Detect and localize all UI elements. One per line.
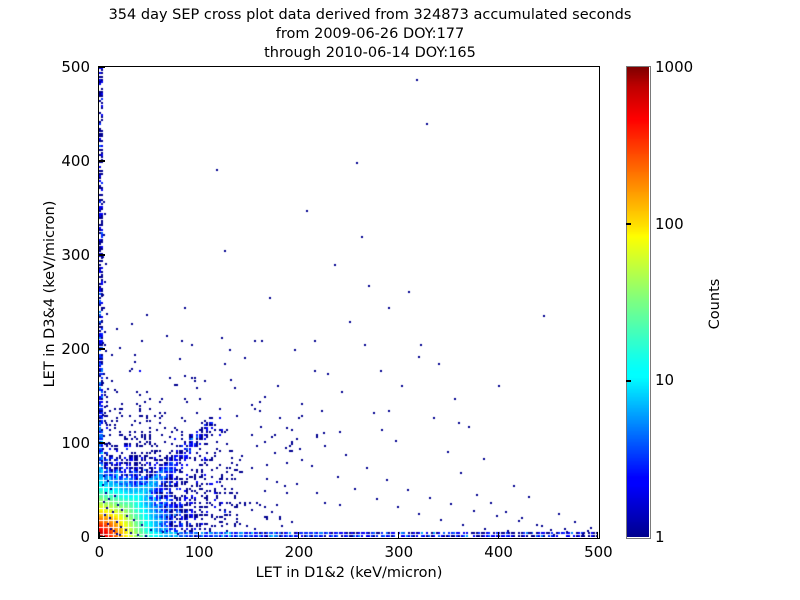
colorbar-title: Counts: [707, 154, 723, 454]
title-line-3: through 2010-06-14 DOY:165: [0, 44, 740, 63]
x-tick-400: [498, 532, 499, 538]
y-axis-title: LET in D3&4 (keV/micron): [42, 144, 58, 444]
x-tick-label-200: 200: [285, 545, 314, 560]
y-tick-200: [99, 348, 105, 349]
y-tick-500: [99, 67, 105, 68]
x-tick-100: [198, 532, 199, 538]
x-tick-200: [298, 532, 299, 538]
y-tick-label-0: 0: [80, 530, 90, 545]
colorbar-tick-label-100: 100: [655, 217, 684, 232]
colorbar-tick-label-1: 1: [655, 530, 665, 545]
y-tick-label-300: 300: [61, 248, 90, 263]
x-tick-500: [597, 532, 598, 538]
colorbar-tick-label-1000: 1000: [655, 60, 693, 75]
plot-area: [98, 66, 600, 539]
x-tick-label-300: 300: [384, 545, 413, 560]
x-tick-label-500: 500: [584, 545, 613, 560]
y-tick-label-200: 200: [61, 342, 90, 357]
x-axis-title: LET in D1&2 (keV/micron): [98, 565, 600, 581]
y-tick-label-100: 100: [61, 436, 90, 451]
y-tick-label-400: 400: [61, 154, 90, 169]
figure-canvas: 354 day SEP cross plot data derived from…: [0, 0, 800, 600]
colorbar-tick-label-10: 10: [655, 373, 674, 388]
scatter-density-plot: [99, 67, 598, 537]
x-tick-300: [398, 532, 399, 538]
figure-title: 354 day SEP cross plot data derived from…: [0, 6, 740, 63]
x-tick-label-100: 100: [185, 545, 214, 560]
title-line-1: 354 day SEP cross plot data derived from…: [0, 6, 740, 25]
y-tick-100: [99, 442, 105, 443]
colorbar-gradient: [627, 67, 649, 537]
y-tick-300: [99, 254, 105, 255]
y-tick-label-500: 500: [61, 60, 90, 75]
x-tick-0: [99, 532, 100, 538]
x-tick-label-0: 0: [95, 545, 105, 560]
x-tick-label-400: 400: [484, 545, 513, 560]
colorbar: [626, 66, 651, 539]
y-tick-400: [99, 160, 105, 161]
title-line-2: from 2009-06-26 DOY:177: [0, 25, 740, 44]
